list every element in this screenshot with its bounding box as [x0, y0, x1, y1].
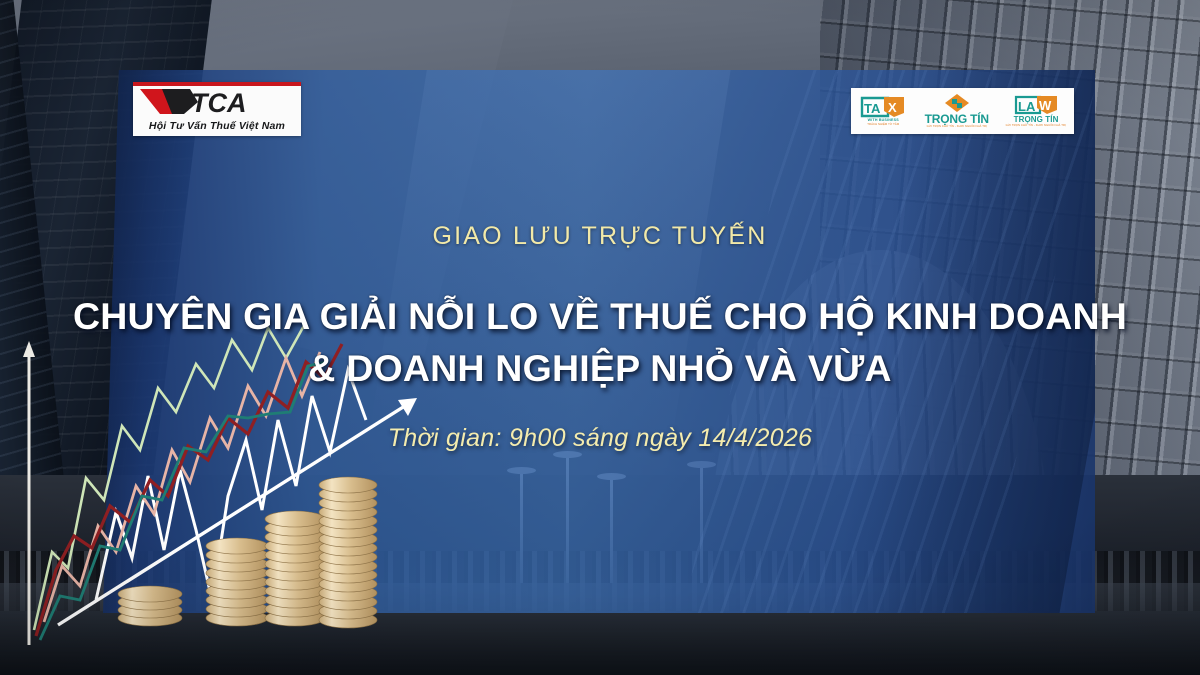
vtca-tagline: Hội Tư Vấn Thuế Việt Nam: [133, 120, 301, 132]
svg-text:LA: LA: [1018, 99, 1036, 114]
tax-with-business-logo: TA X WITH BUSINESS TRÁCH NHIỆM TỪ TÂM: [860, 96, 906, 127]
vtca-red-bar: [133, 82, 301, 86]
headline-line-2: & DOANH NGHIỆP NHỎ VÀ VỪA: [0, 342, 1200, 394]
slide-headline: CHUYÊN GIA GIẢI NỖI LO VỀ THUẾ CHO HỘ KI…: [0, 290, 1200, 394]
tax-tiny-tagline: TRÁCH NHIỆM TỪ TÂM: [867, 124, 899, 127]
law-trong-tin-logo: LA W TRỌNG TÍN GỬI TRỌN CHỮ TÍN - KHƠI N…: [1007, 95, 1064, 128]
svg-text:W: W: [1039, 98, 1052, 113]
law-subtitle: TRỌNG TÍN: [1014, 116, 1059, 124]
slide-canvas: TCA Hội Tư Vấn Thuế Việt Nam TA X WITH B…: [0, 0, 1200, 675]
trong-tin-mark-icon: [944, 93, 970, 113]
event-time: Thời gian: 9h00 sáng ngày 14/4/2026: [0, 424, 1200, 453]
headline-line-1: CHUYÊN GIA GIẢI NỖI LO VỀ THUẾ CHO HỘ KI…: [0, 290, 1200, 342]
trong-tin-tiny-tagline: GỬI TRỌN CHỮ TÍN - KHƠI NGUỒN GIÀ TRỊ: [927, 126, 987, 129]
law-mark-icon: LA W: [1014, 95, 1058, 115]
law-tiny-tagline: GỬI TRỌN CHỮ TÍN - KHƠI NGUỒN GIÀ TRỊ: [1006, 125, 1066, 128]
trong-tin-logo: TRỌNG TÍN GỬI TRỌN CHỮ TÍN - KHƠI NGUỒN …: [925, 93, 989, 129]
partner-logos: TA X WITH BUSINESS TRÁCH NHIỆM TỪ TÂM TR…: [851, 88, 1074, 134]
svg-text:TCA: TCA: [191, 88, 247, 116]
vtca-wordmark-icon: TCA: [138, 87, 296, 116]
vtca-logo: TCA Hội Tư Vấn Thuế Việt Nam: [133, 82, 301, 136]
svg-text:X: X: [888, 100, 897, 115]
tax-mark-icon: TA X: [860, 96, 906, 118]
event-kicker: GIAO LƯU TRỰC TUYẾN: [0, 222, 1200, 251]
trong-tin-word: TRỌNG TÍN: [925, 113, 989, 125]
svg-text:TA: TA: [864, 101, 881, 116]
